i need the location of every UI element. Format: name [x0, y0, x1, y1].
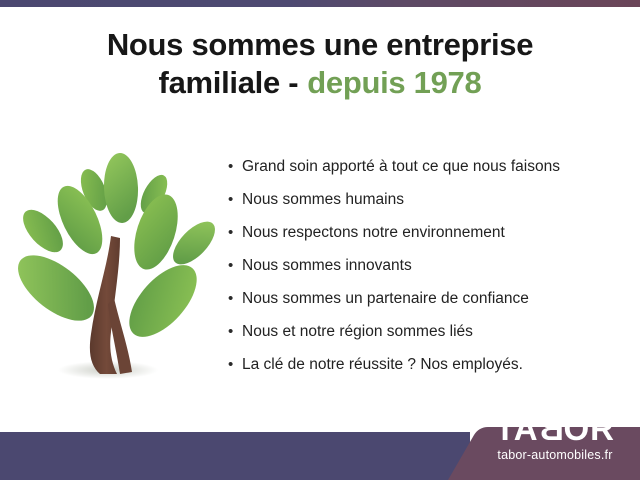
tree-illustration	[8, 148, 230, 388]
bullet-point-icon: •	[228, 183, 242, 216]
page-title: Nous sommes une entreprise familiale -de…	[0, 26, 640, 102]
bullet-point-icon: •	[228, 216, 242, 249]
list-item-label: Nous respectons notre environnement	[242, 216, 505, 249]
wordmark-part-2: OR	[563, 410, 615, 447]
value-bullet-list: • Grand soin apporté à tout ce que nous …	[228, 150, 632, 381]
wordmark-reversed-b: B	[539, 412, 564, 446]
headline-line-2-text: familiale -	[159, 65, 299, 100]
list-item: • Nous sommes innovants	[228, 249, 632, 282]
top-accent-bar	[0, 0, 640, 7]
headline-line-2: familiale -depuis 1978	[0, 64, 640, 102]
list-item-label: Grand soin apporté à tout ce que nous fa…	[242, 150, 560, 183]
bullet-point-icon: •	[228, 348, 242, 381]
bullet-point-icon: •	[228, 315, 242, 348]
list-item: • La clé de notre réussite ? Nos employé…	[228, 348, 632, 381]
headline-line-1: Nous sommes une entreprise	[107, 27, 533, 62]
list-item: • Nous et notre région sommes liés	[228, 315, 632, 348]
brand-website-label: tabor-automobiles.fr	[470, 446, 640, 464]
bullet-point-icon: •	[228, 249, 242, 282]
bullet-point-icon: •	[228, 282, 242, 315]
list-item: • Nous respectons notre environnement	[228, 216, 632, 249]
brand-logo[interactable]: TABOR tabor-automobiles.fr	[470, 412, 640, 464]
list-item-label: Nous sommes humains	[242, 183, 404, 216]
headline-accent-year: depuis 1978	[307, 65, 481, 100]
list-item-label: Nous et notre région sommes liés	[242, 315, 473, 348]
list-item: • Nous sommes un partenaire de confiance	[228, 282, 632, 315]
list-item-label: La clé de notre réussite ? Nos employés.	[242, 348, 523, 381]
list-item: • Grand soin apporté à tout ce que nous …	[228, 150, 632, 183]
wordmark-part-1: TA	[495, 410, 539, 447]
list-item: • Nous sommes humains	[228, 183, 632, 216]
slide-canvas: Nous sommes une entreprise familiale -de…	[0, 0, 640, 480]
list-item-label: Nous sommes innovants	[242, 249, 412, 282]
brand-wordmark: TABOR	[470, 412, 640, 446]
bullet-point-icon: •	[228, 150, 242, 183]
list-item-label: Nous sommes un partenaire de confiance	[242, 282, 529, 315]
footer-bar-left	[0, 432, 470, 480]
